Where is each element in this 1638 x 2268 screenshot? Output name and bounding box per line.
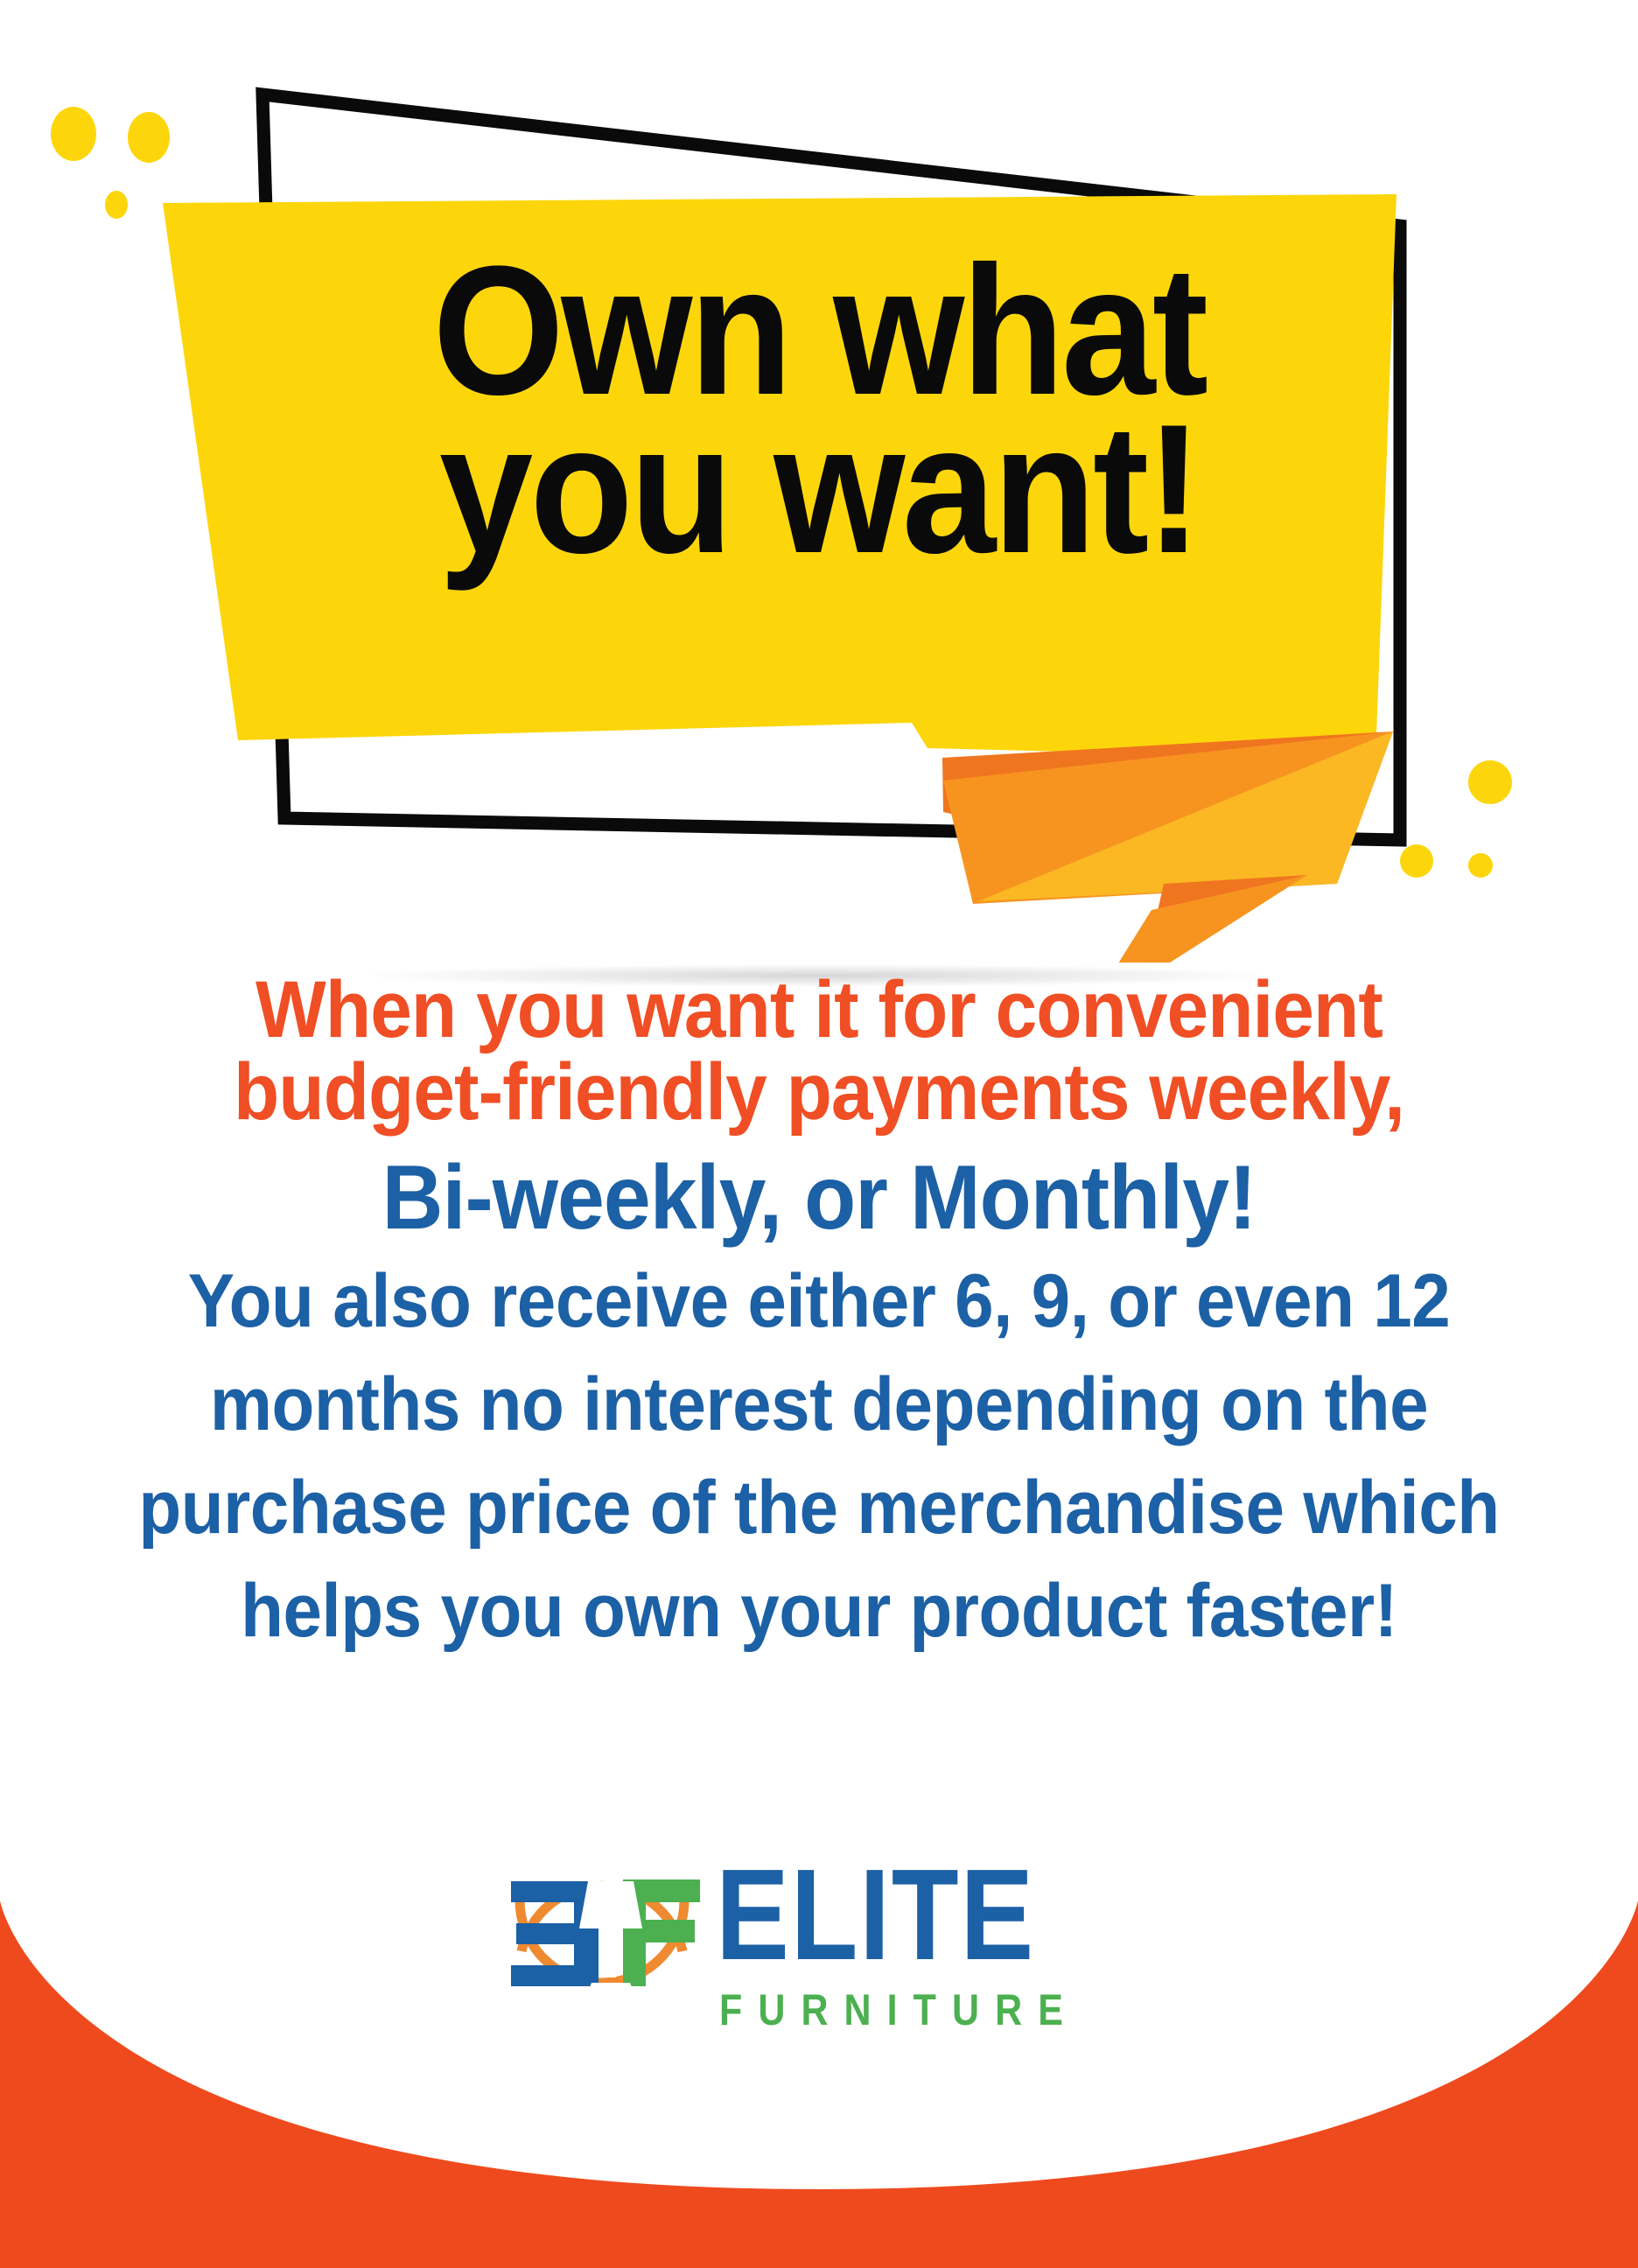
copy-blue-line-2: months no interest depending on the	[98, 1356, 1540, 1452]
copy-blue-line-1: You also receive either 6, 9, or even 12	[98, 1253, 1540, 1349]
poster-canvas: Own what you want! When you want it for …	[0, 0, 1638, 2268]
copy-blue-line-3: purchase price of the merchandise which	[98, 1459, 1540, 1556]
headline-line-2: you want!	[66, 410, 1572, 569]
copy-blue-line-4: helps you own your product faster!	[98, 1563, 1540, 1659]
body-copy-block: When you want it for convenient budget-f…	[44, 969, 1594, 1659]
copy-red-line-2: budget-friendly payments weekly,	[98, 1052, 1540, 1134]
headline-block: Own what you want!	[0, 252, 1638, 568]
logo-brand-name: ELITE	[716, 1853, 1074, 1977]
copy-blue-emphasis: Bi-weekly, or Monthly!	[98, 1150, 1540, 1246]
logo-brand-sub: FURNITURE	[719, 1984, 1079, 2035]
elite-furniture-monogram-icon	[500, 1827, 703, 2030]
brand-logo: ELITE FURNITURE	[0, 1827, 1638, 2035]
copy-red-line-1: When you want it for convenient	[98, 969, 1540, 1052]
